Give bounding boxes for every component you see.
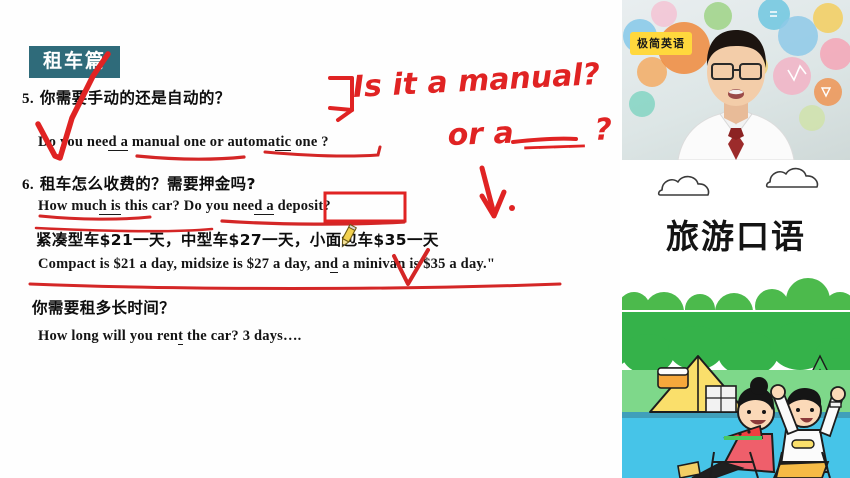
arrow-head-left xyxy=(330,108,352,120)
q5-en-underlined-2: tic xyxy=(275,134,291,151)
q6d-underlined: d xyxy=(330,256,338,273)
underline-manual-one xyxy=(137,156,244,159)
arrow-period-dot xyxy=(509,205,515,211)
q6-en-seg: deposit? xyxy=(274,198,331,214)
q5-en-underlined-1: d a xyxy=(108,134,128,151)
box-around-deposit xyxy=(325,193,405,221)
q6d-seg: Compact is $21 a day, midsize is $27 a d… xyxy=(38,256,330,272)
deco-bubble xyxy=(704,2,732,30)
title-panel: 旅游口语 xyxy=(622,162,850,310)
underline-compact-line xyxy=(30,284,560,289)
tree-blob xyxy=(718,332,778,376)
q6-en-underlined-2: d a xyxy=(254,198,274,215)
cloud-icon-right xyxy=(767,169,818,187)
question-6-chinese: 6. 租车怎么收费的？需要押金吗? xyxy=(22,172,256,194)
q7-en-seg: the car? 3 days…. xyxy=(183,328,301,344)
deco-bubble xyxy=(778,16,818,56)
deco-bubble xyxy=(651,1,677,27)
question-6-english: How much is this car? Do you need a depo… xyxy=(38,198,331,215)
question-5-chinese-text: 你需要手动的还是自动的？ xyxy=(40,89,231,107)
cloud-icon-left xyxy=(659,177,709,195)
down-arrow-head xyxy=(482,192,504,216)
underline-how-much-is xyxy=(40,216,150,219)
question-7-english: How long will you rent the car? 3 days…. xyxy=(38,328,302,345)
right-sidebar: 极简英语 旅游口语 xyxy=(620,0,850,478)
deco-bubble xyxy=(799,105,825,131)
bracket-arrow-to-note xyxy=(330,78,352,110)
q5-en-seg: manual one or automa xyxy=(128,134,275,150)
q6d-seg: a minivan is $35 a day." xyxy=(338,256,495,272)
q7-en-seg: How long will you ren xyxy=(38,328,178,344)
bush-row xyxy=(622,278,850,310)
question-6-number: 6. xyxy=(22,177,34,193)
handwritten-note-line-1: Is it a manual? xyxy=(352,57,601,105)
question-5-english: Do you need a manual one or automatic on… xyxy=(38,134,329,151)
question-7-chinese: 你需要租多长时间？ xyxy=(32,296,175,318)
course-title: 旅游口语 xyxy=(622,210,850,258)
chapter-badge: 租车篇 xyxy=(29,46,120,78)
pencil-cursor xyxy=(337,224,359,250)
camping-illustration xyxy=(622,312,850,478)
q6-en-seg: this car? Do you nee xyxy=(121,198,254,214)
deco-bubble xyxy=(820,38,850,70)
q6-en-underlined-1: h is xyxy=(99,198,121,215)
q5-en-seg: Do you nee xyxy=(38,134,108,150)
deco-bubble xyxy=(629,91,655,117)
channel-badge: 极简英语 xyxy=(630,32,692,55)
question-5-number: 5. xyxy=(22,91,34,107)
down-arrow xyxy=(482,168,494,214)
deco-bubble xyxy=(813,3,843,33)
price-line-english: Compact is $21 a day, midsize is $27 a d… xyxy=(38,256,495,273)
question-5-chinese: 5. 你需要手动的还是自动的？ xyxy=(22,86,231,108)
q5-en-seg: one ? xyxy=(291,134,328,150)
slide-canvas: 租车篇 5. 你需要手动的还是自动的？ Do you need a manual… xyxy=(0,0,620,478)
underline-need-a-deposit xyxy=(222,221,404,224)
question-6-chinese-text: 租车怎么收费的？需要押金吗? xyxy=(40,175,256,193)
lesson-screen: 租车篇 5. 你需要手动的还是自动的？ Do you need a manual… xyxy=(0,0,850,478)
handwritten-note-line-2: or a ____ ? xyxy=(447,112,613,153)
q6-en-seg: How muc xyxy=(38,198,99,214)
video-tile[interactable]: 极简英语 xyxy=(622,0,850,160)
price-line-chinese: 紧凑型车$21一天，中型车$27一天，小面包车$35一天 xyxy=(36,228,439,250)
